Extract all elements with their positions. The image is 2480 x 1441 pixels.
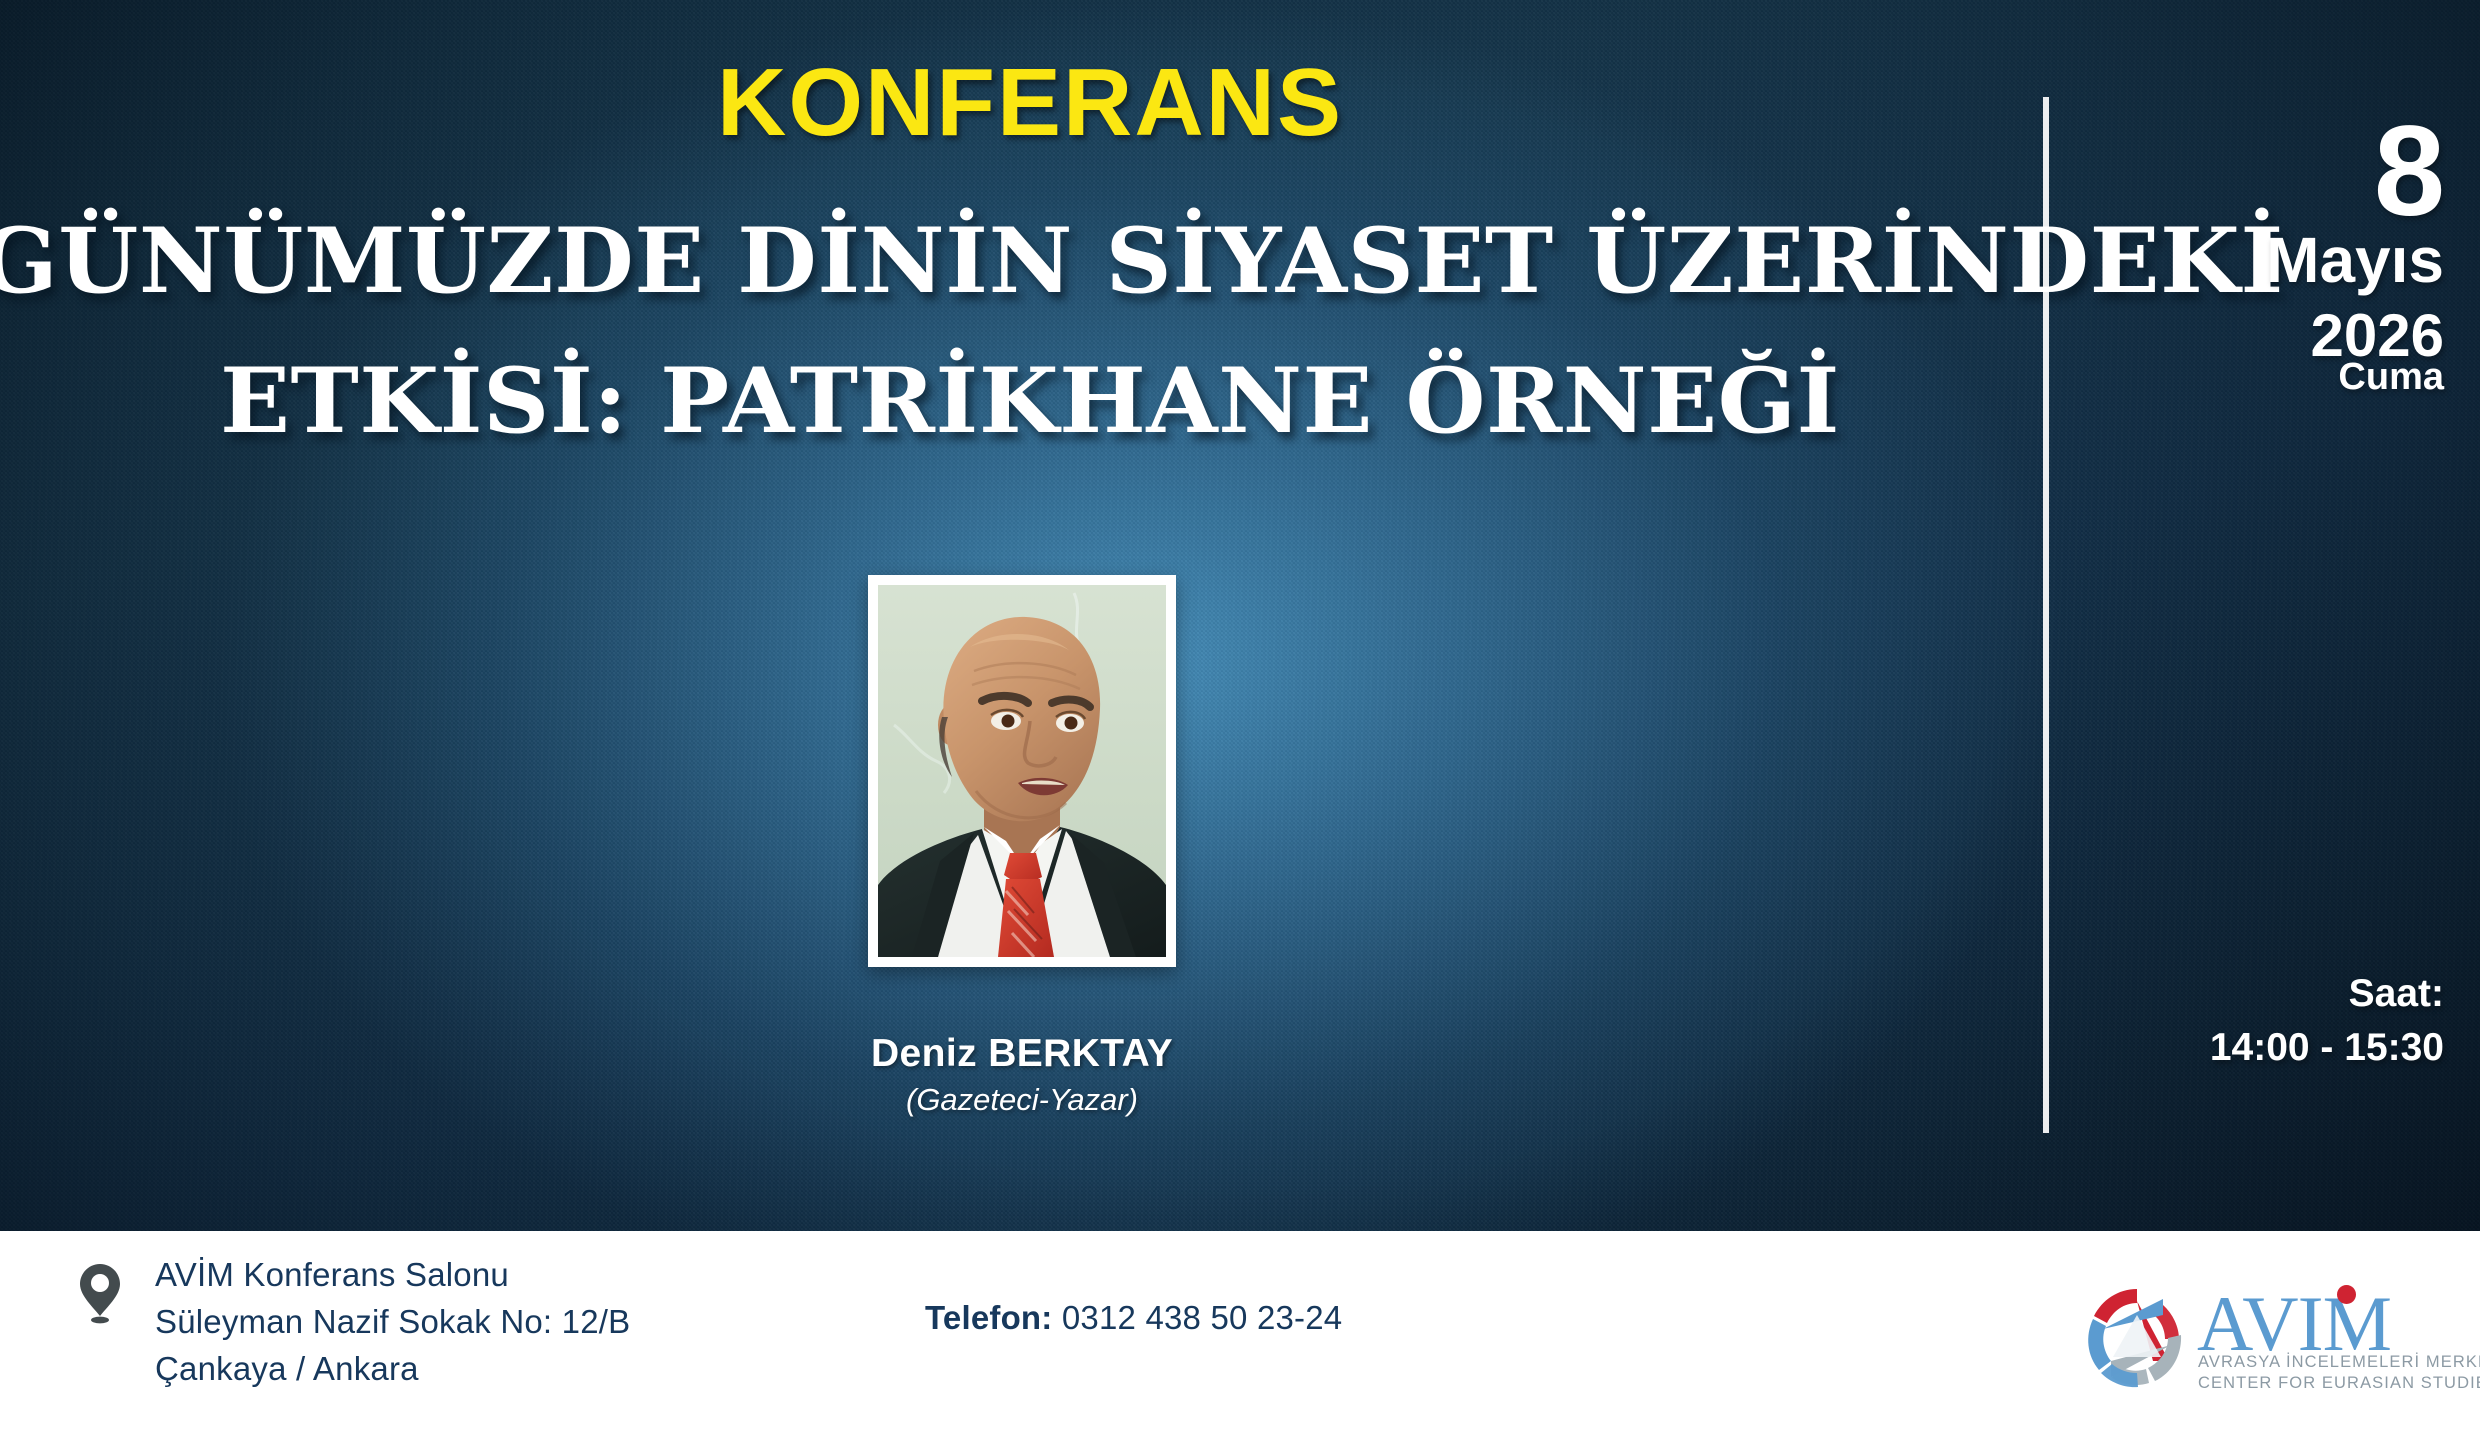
speaker-portrait-illustration: [878, 585, 1166, 957]
date-month: Mayıs: [2266, 228, 2444, 292]
date-weekday: Cuma: [2338, 358, 2444, 396]
venue-line-1: AVİM Konferans Salonu: [155, 1251, 630, 1298]
speaker-role: (Gazeteci-Yazar): [600, 1082, 1444, 1118]
avim-wordmark: AVIM AVRASYA İNCELEMELERİ MERKEZİ CENTER…: [2197, 1283, 2447, 1395]
speaker-photo-frame: [868, 575, 1176, 967]
vertical-divider: [2043, 97, 2049, 1133]
speaker-photo: [878, 585, 1166, 957]
time-label: Saat:: [2349, 972, 2444, 1016]
date-time-panel: 8 Mayıs 2026 Cuma Saat: 14:00 - 15:30: [2060, 0, 2480, 1231]
date-day: 8: [2374, 108, 2444, 236]
avim-logo-mark-icon: [2085, 1285, 2189, 1389]
avim-i-dot-icon: [2337, 1285, 2356, 1304]
poster-kicker: KONFERANS: [0, 48, 2060, 158]
phone-label: Telefon:: [925, 1299, 1052, 1336]
avim-wordmark-text: AVIM: [2197, 1285, 2391, 1363]
time-value: 14:00 - 15:30: [2210, 1026, 2444, 1070]
phone-number: 0312 438 50 23-24: [1062, 1299, 1342, 1336]
avim-subtitle-tr: AVRASYA İNCELEMELERİ MERKEZİ: [2198, 1353, 2480, 1372]
venue-line-3: Çankaya / Ankara: [155, 1345, 630, 1392]
avim-logo[interactable]: AVIM AVRASYA İNCELEMELERİ MERKEZİ CENTER…: [2085, 1283, 2445, 1395]
venue-address: AVİM Konferans Salonu Süleyman Nazif Sok…: [155, 1251, 630, 1392]
speaker-name: Deniz BERKTAY: [600, 1032, 1444, 1076]
venue-line-2: Süleyman Nazif Sokak No: 12/B: [155, 1298, 630, 1345]
avim-subtitle-en: CENTER FOR EURASIAN STUDIES: [2198, 1374, 2480, 1393]
conference-poster: KONFERANS GÜNÜMÜZDE DİNİN SİYASET ÜZERİN…: [0, 0, 2480, 1441]
phone-block: Telefon: 0312 438 50 23-24: [925, 1299, 1342, 1337]
poster-title-line-1: GÜNÜMÜZDE DİNİN SİYASET ÜZERİNDEKİ: [0, 208, 2081, 314]
poster-title-line-2: ETKİSİ: PATRİKHANE ÖRNEĞİ: [0, 348, 2081, 454]
map-pin-icon: [76, 1262, 124, 1324]
